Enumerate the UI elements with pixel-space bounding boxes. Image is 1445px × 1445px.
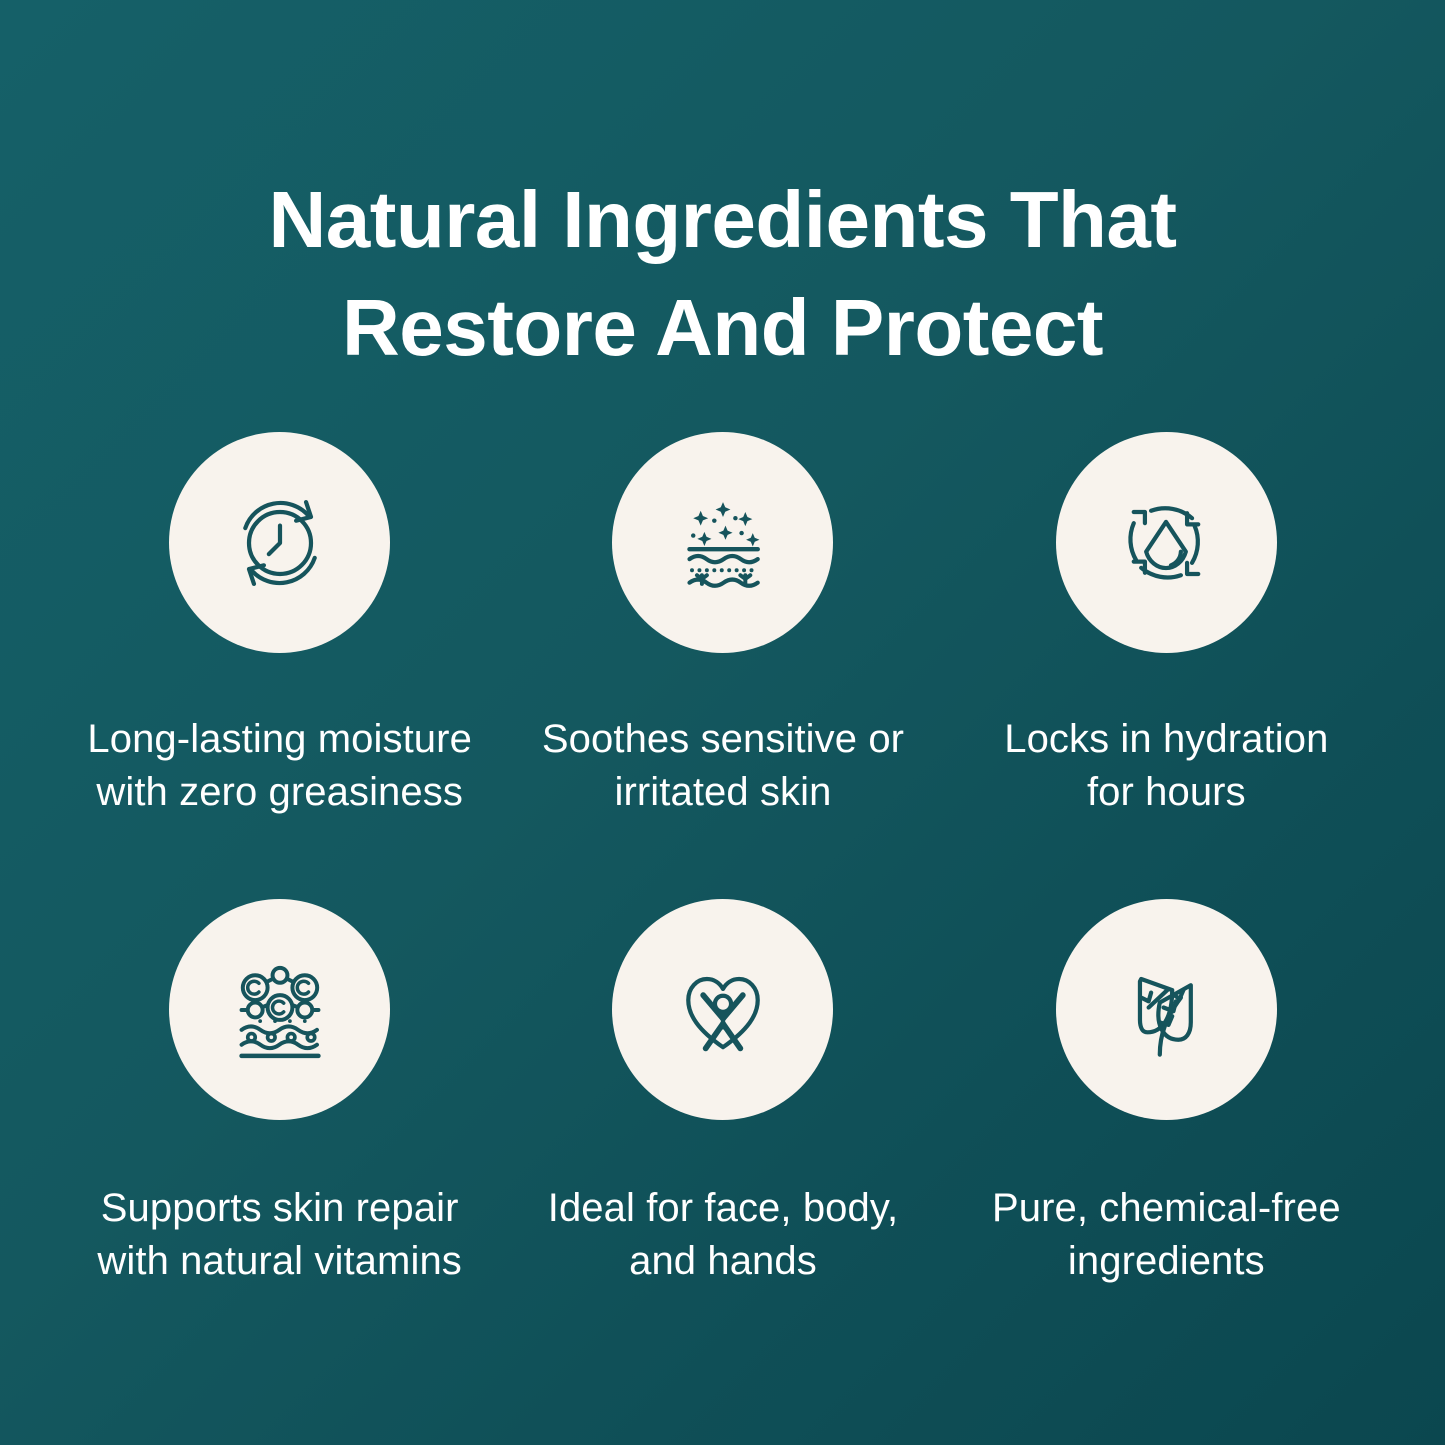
- caption-line-1: Supports skin repair: [97, 1182, 461, 1235]
- icon-disc: [612, 432, 833, 653]
- caption-line-2: with natural vitamins: [97, 1235, 461, 1288]
- caption-line-1: Ideal for face, body,: [548, 1182, 898, 1235]
- water-droplet-recycle-icon: [1104, 481, 1228, 605]
- caption-line-2: ingredients: [992, 1235, 1341, 1288]
- icon-disc: [612, 899, 833, 1120]
- feature-item: Locks in hydration for hours: [945, 432, 1388, 899]
- feature-caption: Locks in hydration for hours: [1004, 713, 1328, 819]
- feature-item: Supports skin repair with natural vitami…: [58, 899, 501, 1366]
- feature-item: Soothes sensitive or irritated skin: [501, 432, 944, 899]
- feature-item: Pure, chemical-free ingredients: [945, 899, 1388, 1366]
- two-leaves-icon: [1104, 948, 1228, 1072]
- caption-line-2: with zero greasiness: [87, 766, 472, 819]
- person-in-heart-icon: [661, 948, 785, 1072]
- clock-refresh-icon: [218, 481, 342, 605]
- caption-line-2: irritated skin: [542, 766, 904, 819]
- vitamin-c-molecule-skin-icon: [218, 948, 342, 1072]
- feature-caption: Long-lasting moisture with zero greasine…: [87, 713, 472, 819]
- feature-caption: Pure, chemical-free ingredients: [992, 1182, 1341, 1288]
- promo-poster: Natural Ingredients That Restore And Pro…: [0, 0, 1445, 1445]
- icon-disc: [1056, 899, 1277, 1120]
- icon-disc: [169, 899, 390, 1120]
- caption-line-2: and hands: [548, 1235, 898, 1288]
- feature-caption: Ideal for face, body, and hands: [548, 1182, 898, 1288]
- caption-line-1: Soothes sensitive or: [542, 713, 904, 766]
- caption-line-1: Locks in hydration: [1004, 713, 1328, 766]
- icon-disc: [169, 432, 390, 653]
- caption-line-2: for hours: [1004, 766, 1328, 819]
- icon-disc: [1056, 432, 1277, 653]
- feature-item: Ideal for face, body, and hands: [501, 899, 944, 1366]
- sparkling-skin-layers-icon: [661, 481, 785, 605]
- feature-caption: Supports skin repair with natural vitami…: [97, 1182, 461, 1288]
- page-title: Natural Ingredients That Restore And Pro…: [110, 166, 1335, 384]
- headline-line-1: Natural Ingredients That: [110, 166, 1335, 275]
- feature-item: Long-lasting moisture with zero greasine…: [58, 432, 501, 899]
- caption-line-1: Long-lasting moisture: [87, 713, 472, 766]
- feature-caption: Soothes sensitive or irritated skin: [542, 713, 904, 819]
- headline-line-2: Restore And Protect: [110, 274, 1335, 383]
- feature-grid: Long-lasting moisture with zero greasine…: [58, 432, 1388, 1366]
- caption-line-1: Pure, chemical-free: [992, 1182, 1341, 1235]
